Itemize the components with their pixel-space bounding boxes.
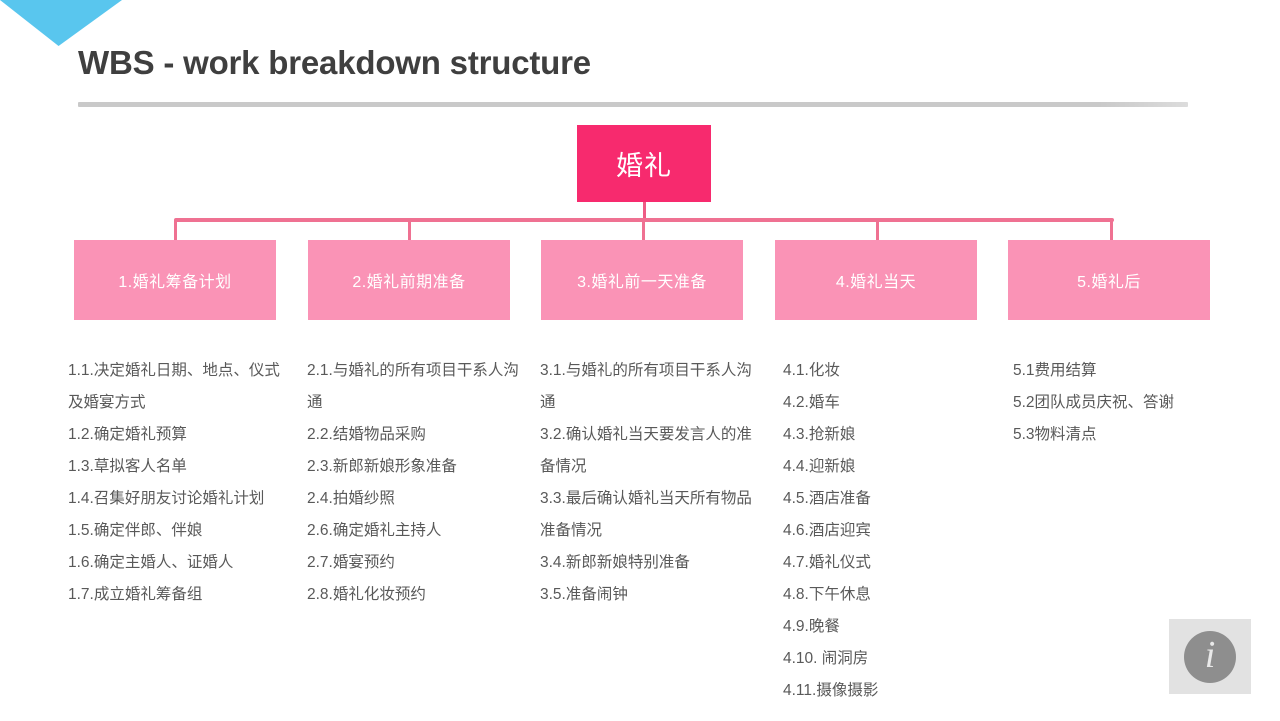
task-item: 2.3.新郎新娘形象准备	[307, 451, 522, 483]
task-item: 2.6.确定婚礼主持人	[307, 515, 522, 547]
task-item: 4.8.下午休息	[783, 579, 983, 611]
task-item: 1.2.确定婚礼预算	[68, 419, 280, 451]
task-item: 4.5.酒店准备	[783, 483, 983, 515]
wbs-root-node[interactable]: 婚礼	[577, 125, 711, 202]
task-item: 3.1.与婚礼的所有项目干系人沟通	[540, 355, 755, 419]
task-item: 4.11.摄像摄影	[783, 675, 983, 707]
task-item: 4.2.婚车	[783, 387, 983, 419]
task-column-4: 4.1.化妆 4.2.婚车 4.3.抢新娘 4.4.迎新娘 4.5.酒店准备 4…	[783, 355, 983, 707]
task-item: 1.7.成立婚礼筹备组	[68, 579, 280, 611]
task-item: 2.7.婚宴预约	[307, 547, 522, 579]
task-column-1: 1.1.决定婚礼日期、地点、仪式及婚宴方式 1.2.确定婚礼预算 1.3.草拟客…	[68, 355, 280, 611]
task-item: 5.3物料清点	[1013, 419, 1238, 451]
wbs-node-4[interactable]: 4.婚礼当天	[775, 240, 977, 320]
task-column-3: 3.1.与婚礼的所有项目干系人沟通 3.2.确认婚礼当天要发言人的准备情况 3.…	[540, 355, 755, 611]
connector-drop-5	[1110, 220, 1113, 241]
info-icon: i	[1184, 631, 1236, 683]
task-item: 2.4.拍婚纱照	[307, 483, 522, 515]
task-item: 3.5.准备闹钟	[540, 579, 755, 611]
task-item: 5.1费用结算	[1013, 355, 1238, 387]
task-item: 4.4.迎新娘	[783, 451, 983, 483]
task-item: 5.2团队成员庆祝、答谢	[1013, 387, 1238, 419]
task-item: 4.1.化妆	[783, 355, 983, 387]
task-item: 1.3.草拟客人名单	[68, 451, 280, 483]
wbs-node-3[interactable]: 3.婚礼前一天准备	[541, 240, 743, 320]
task-item: 1.1.决定婚礼日期、地点、仪式及婚宴方式	[68, 355, 280, 419]
wbs-node-5[interactable]: 5.婚礼后	[1008, 240, 1210, 320]
task-item: 3.4.新郎新娘特别准备	[540, 547, 755, 579]
wbs-node-1[interactable]: 1.婚礼筹备计划	[74, 240, 276, 320]
task-item: 2.8.婚礼化妆预约	[307, 579, 522, 611]
task-item: 4.7.婚礼仪式	[783, 547, 983, 579]
task-item: 3.3.最后确认婚礼当天所有物品准备情况	[540, 483, 755, 547]
task-item: 1.6.确定主婚人、证婚人	[68, 547, 280, 579]
task-item: 1.5.确定伴郎、伴娘	[68, 515, 280, 547]
task-item: 4.9.晚餐	[783, 611, 983, 643]
task-item: 2.2.结婚物品采购	[307, 419, 522, 451]
info-badge[interactable]: i	[1169, 619, 1251, 694]
wbs-tree: 婚礼 1.婚礼筹备计划 2.婚礼前期准备 3.婚礼前一天准备 4.婚礼当天 5.…	[0, 0, 1280, 721]
wbs-node-2[interactable]: 2.婚礼前期准备	[308, 240, 510, 320]
connector-drop-4	[876, 220, 879, 241]
task-item: 1.4.召集好朋友讨论婚礼计划	[68, 483, 280, 515]
connector-drop-3	[642, 220, 645, 241]
task-item: 4.6.酒店迎宾	[783, 515, 983, 547]
task-item: 4.10. 闹洞房	[783, 643, 983, 675]
task-item: 2.1.与婚礼的所有项目干系人沟通	[307, 355, 522, 419]
connector-drop-2	[408, 220, 411, 241]
task-column-5: 5.1费用结算 5.2团队成员庆祝、答谢 5.3物料清点	[1013, 355, 1238, 451]
task-item: 4.3.抢新娘	[783, 419, 983, 451]
task-column-2: 2.1.与婚礼的所有项目干系人沟通 2.2.结婚物品采购 2.3.新郎新娘形象准…	[307, 355, 522, 611]
connector-drop-1	[174, 220, 177, 241]
task-item: 3.2.确认婚礼当天要发言人的准备情况	[540, 419, 755, 483]
